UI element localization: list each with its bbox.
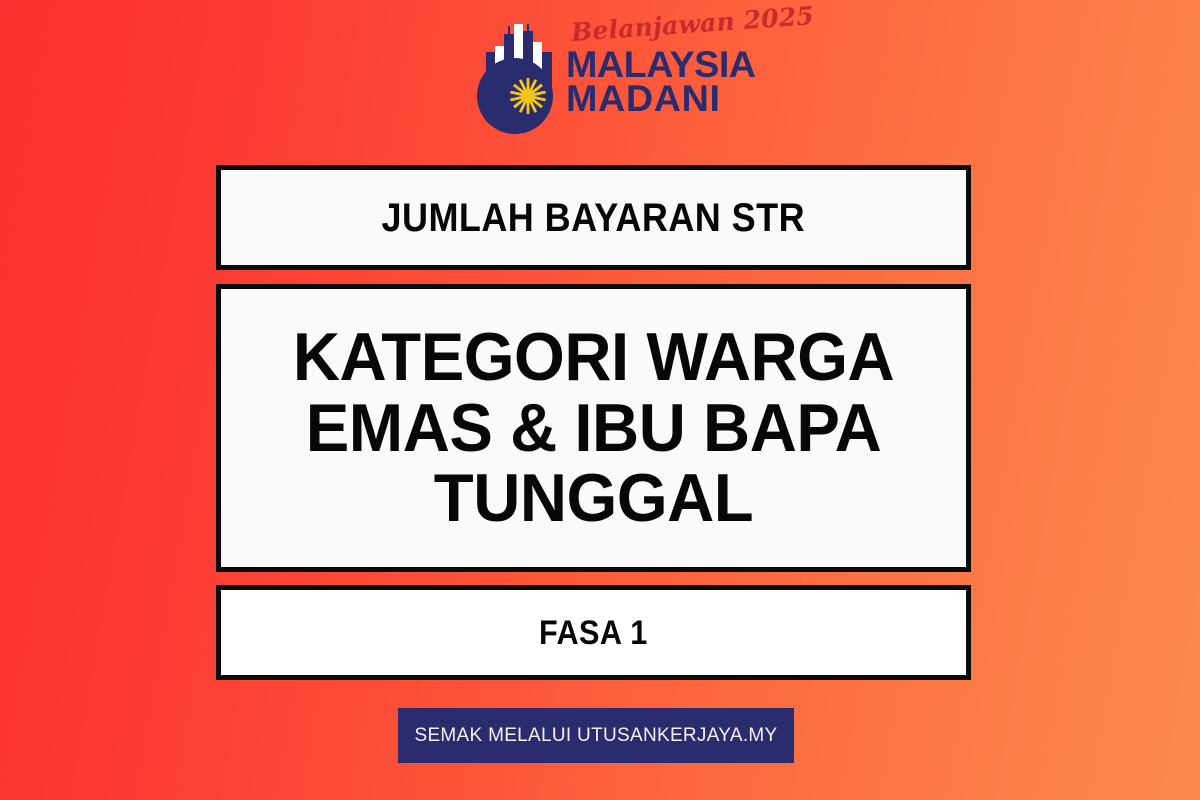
payment-total-box: JUMLAH BAYARAN STR — [216, 165, 971, 270]
logo-brand-line-2: MADANI — [566, 82, 814, 116]
poster-canvas: Belanjawan 2025 MALAYSIA MADANI JUMLAH B… — [0, 0, 1200, 800]
phase-box: FASA 1 — [216, 585, 971, 680]
check-website-banner[interactable]: SEMAK MELALUI UTUSANKERJAYA.MY — [398, 708, 794, 763]
check-website-label: SEMAK MELALUI UTUSANKERJAYA.MY — [414, 726, 777, 745]
logo-wordmark: Belanjawan 2025 MALAYSIA MADANI — [566, 18, 809, 116]
malaysia-madani-logo: Belanjawan 2025 MALAYSIA MADANI — [466, 18, 738, 140]
logo-budget-script: Belanjawan 2025 — [570, 3, 814, 45]
logo-brand-line-1: MALAYSIA — [566, 48, 814, 82]
logo-brand-name: MALAYSIA MADANI — [566, 48, 814, 116]
category-box: KATEGORI WARGA EMAS & IBU BAPA TUNGGAL — [216, 284, 971, 572]
malaysia-madani-emblem-icon — [466, 18, 564, 136]
payment-total-label: JUMLAH BAYARAN STR — [382, 198, 805, 238]
category-headline: KATEGORI WARGA EMAS & IBU BAPA TUNGGAL — [236, 322, 951, 534]
phase-label: FASA 1 — [539, 616, 648, 650]
